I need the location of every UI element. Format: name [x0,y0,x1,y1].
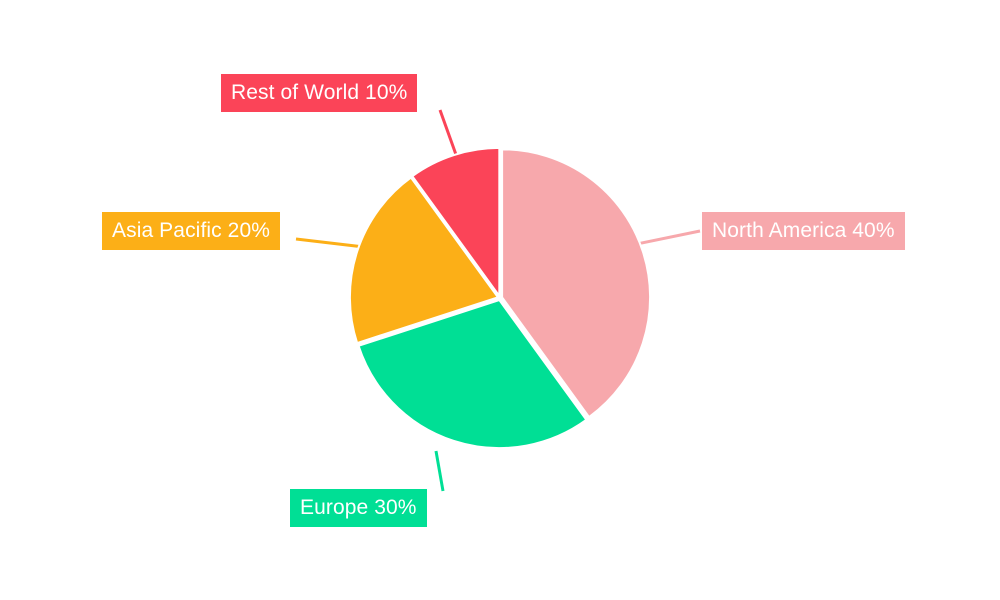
pie-chart-figure: North America 40% Europe 30% Asia Pacifi… [0,0,1000,600]
data-label-rest-of-world-text: Rest of World 10% [231,81,407,105]
data-label-north-america-text: North America 40% [712,219,895,243]
pie-chart-canvas [0,0,1000,600]
data-label-europe[interactable]: Europe 30% [290,489,427,527]
pie-slices-group [350,148,650,448]
data-label-rest-of-world[interactable]: Rest of World 10% [221,74,417,112]
leader-line-europe [436,451,443,491]
data-label-asia-pacific-text: Asia Pacific 20% [112,219,270,243]
data-label-europe-text: Europe 30% [300,496,417,520]
leader-line-asia-pacific [296,239,364,247]
data-label-north-america[interactable]: North America 40% [702,212,905,250]
data-label-asia-pacific[interactable]: Asia Pacific 20% [102,212,280,250]
